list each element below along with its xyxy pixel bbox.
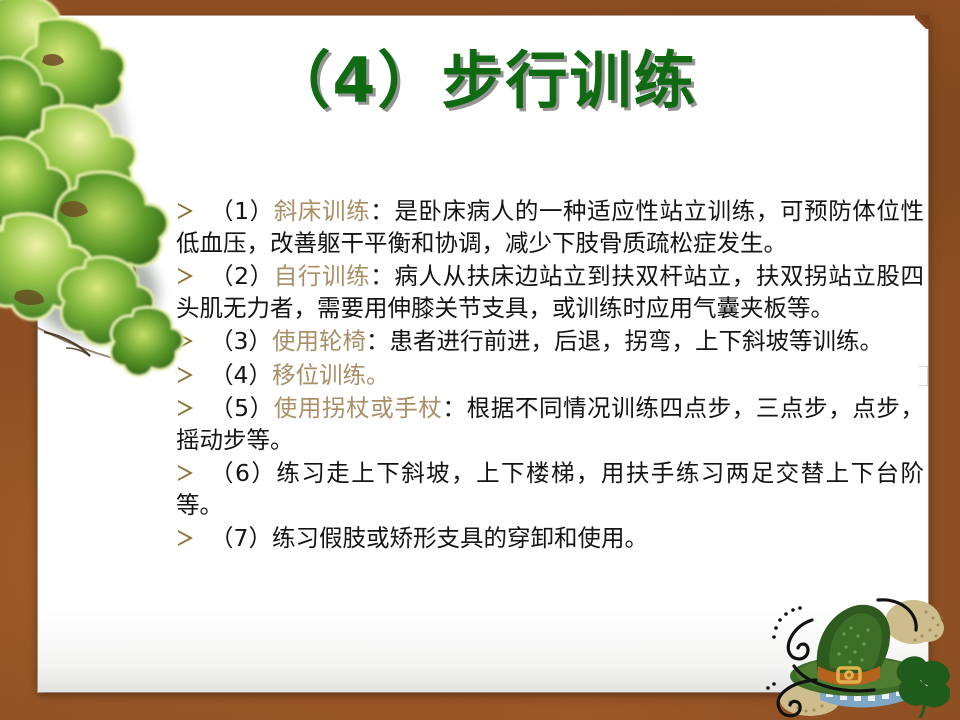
list-item-keyword: 使用拐杖或手杖 <box>274 394 443 422</box>
list-item-separator: ： <box>370 197 394 225</box>
list-item: （4）移位训练。 <box>176 360 924 392</box>
watermark-speck <box>918 366 928 386</box>
list-item: （1）斜床训练：是卧床病人的一种适应性站立训练，可预防体位性低血压，改善躯干平衡… <box>176 196 924 259</box>
list-item-keyword: 移位训练。 <box>272 361 390 389</box>
arrow-bullet-icon <box>178 465 193 481</box>
list-item-keyword: 斜床训练 <box>274 197 370 225</box>
arrow-bullet-icon <box>178 203 193 219</box>
list-item: （2）自行训练：病人从扶床边站立到扶双杆站立，扶双拐站立股四头肌无力者，需要用伸… <box>176 261 924 324</box>
arrow-bullet-icon <box>178 268 193 284</box>
list-item: （6）练习走上下斜坡，上下楼梯，用扶手练习两足交替上下台阶等。 <box>176 458 924 521</box>
list-item-keyword: 自行训练 <box>274 262 370 290</box>
list-item-text: 练习走上下斜坡，上下楼梯，用扶手练习两足交替上下台阶等。 <box>176 459 924 519</box>
list-item: （7）练习假肢或矫形支具的穿卸和使用。 <box>176 523 924 555</box>
list-item-number: （4） <box>210 361 272 389</box>
list-item-number: （2） <box>210 262 274 290</box>
page-title: （4）步行训练 <box>38 48 928 113</box>
list-item: （3）使用轮椅：患者进行前进，后退，拐弯，上下斜坡等训练。 <box>176 326 924 358</box>
list-item-number: （3） <box>210 327 272 355</box>
list-item-keyword: 使用轮椅 <box>272 327 366 355</box>
list-item-number: （7） <box>210 524 272 552</box>
slide-canvas: （4）步行训练 （1）斜床训练：是卧床病人的一种适应性站立训练，可预防体位性低血… <box>0 0 960 720</box>
arrow-bullet-icon <box>178 367 193 383</box>
list-item-text: 患者进行前进，后退，拐弯，上下斜坡等训练。 <box>389 327 883 355</box>
arrow-bullet-icon <box>178 530 193 546</box>
list-item-separator: ： <box>366 327 390 355</box>
list-item-separator: ： <box>443 394 467 422</box>
arrow-bullet-icon <box>178 400 193 416</box>
bullet-list: （1）斜床训练：是卧床病人的一种适应性站立训练，可预防体位性低血压，改善躯干平衡… <box>176 196 924 557</box>
list-item-text: 练习假肢或矫形支具的穿卸和使用。 <box>272 524 648 552</box>
list-item-number: （6） <box>210 459 276 487</box>
list-item: （5）使用拐杖或手杖：根据不同情况训练四点步，三点步，点步，摇动步等。 <box>176 393 924 456</box>
list-item-number: （1） <box>210 197 274 225</box>
list-item-separator: ： <box>370 262 394 290</box>
arrow-bullet-icon <box>178 333 193 349</box>
list-item-number: （5） <box>210 394 274 422</box>
